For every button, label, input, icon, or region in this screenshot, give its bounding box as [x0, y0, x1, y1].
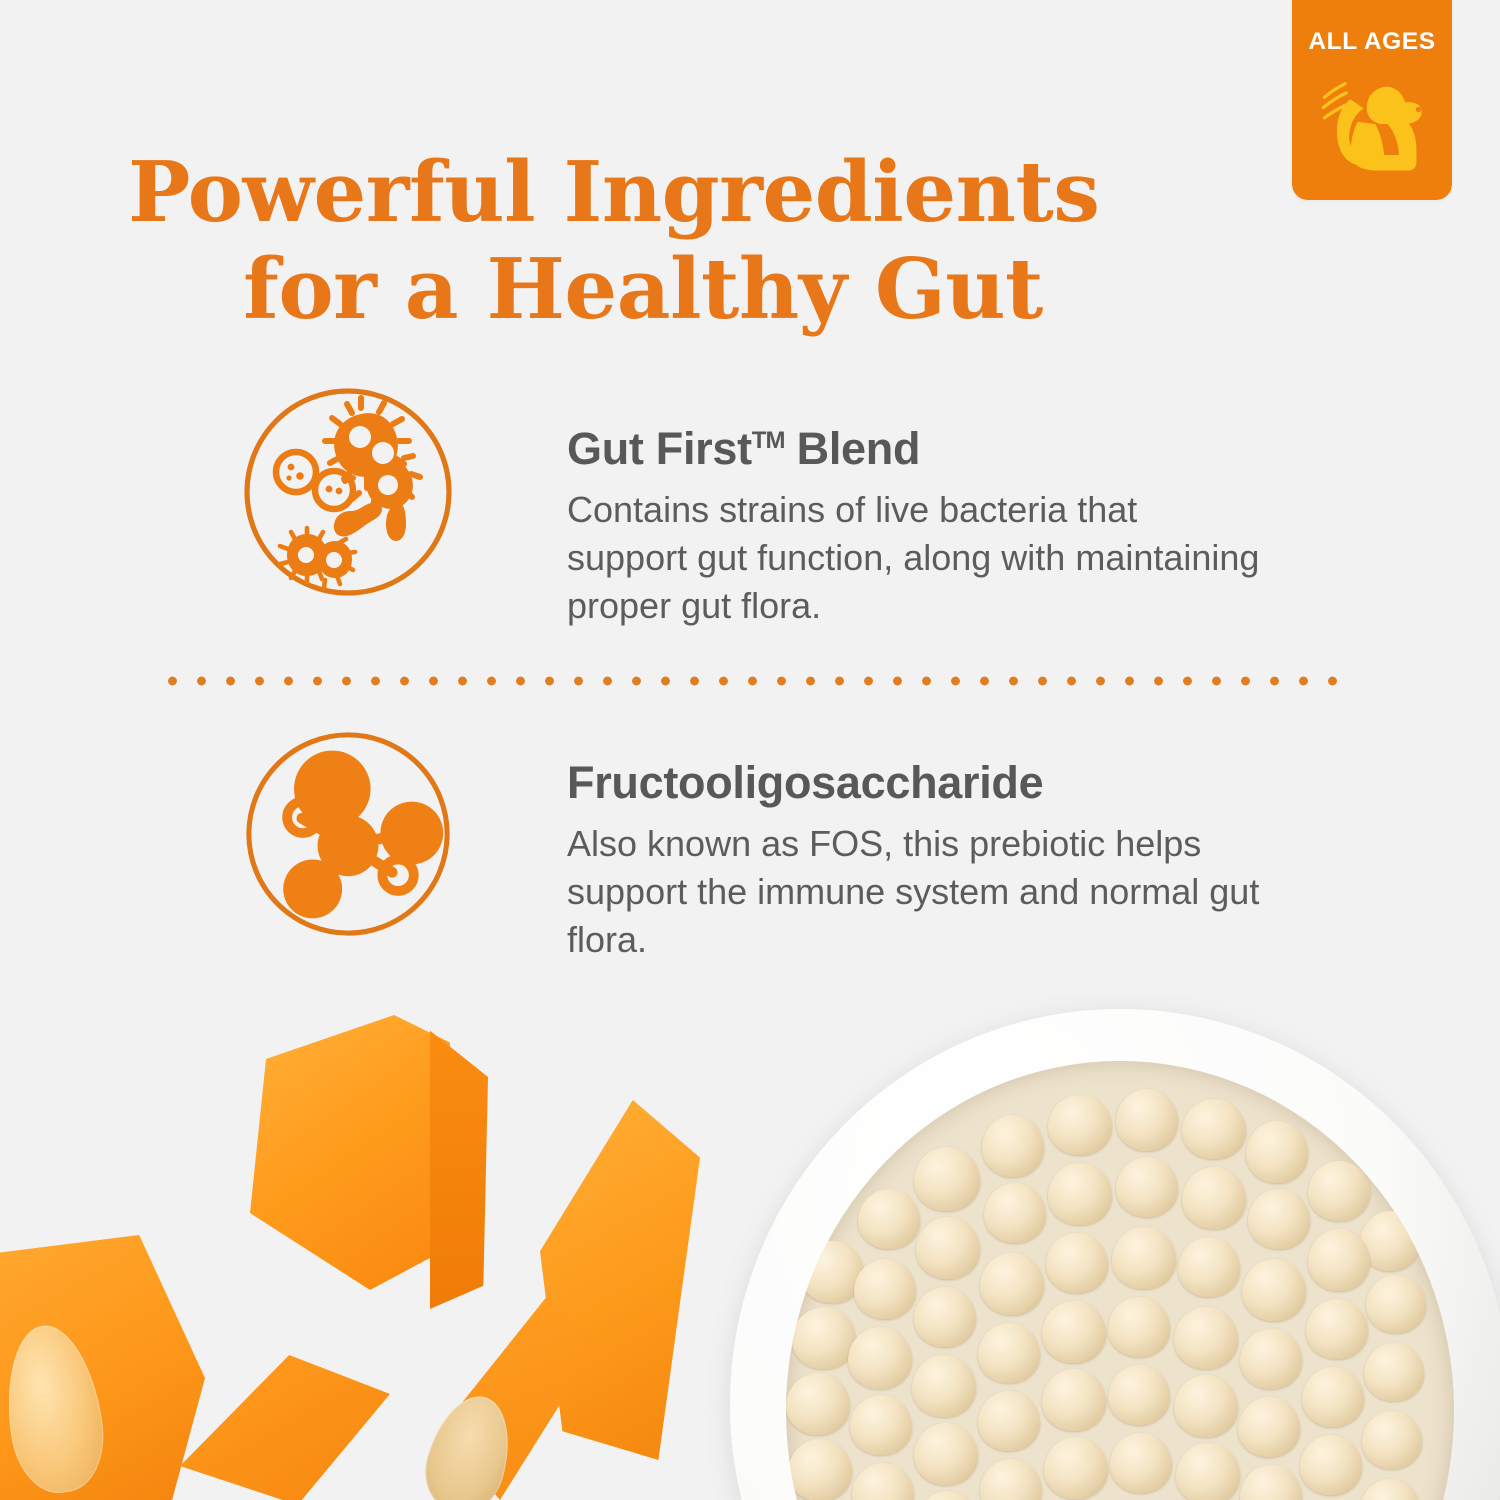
feature-title-main: Fructooligosaccharide — [567, 757, 1043, 808]
chickpeas-bowl-photo — [700, 995, 1500, 1500]
ingredient-photo-band — [0, 995, 1500, 1500]
feature-description-gut-first-blend: Contains strains of live bacteria that s… — [567, 486, 1267, 630]
feature-description-fructooligosaccharide: Also known as FOS, this prebiotic helps … — [567, 820, 1267, 964]
feature-title-main: Gut First — [567, 423, 752, 474]
molecule-icon — [243, 728, 453, 940]
section-divider — [158, 676, 1342, 686]
headline-line-2: for a Healthy Gut — [128, 241, 1238, 338]
feature-title-gut-first-blend: Gut FirstTM Blend — [567, 416, 1267, 474]
headline-line-1: Powerful Ingredients — [128, 144, 1238, 241]
sitting-dog-icon — [1310, 62, 1434, 186]
all-ages-badge-label: ALL AGES — [1292, 28, 1452, 56]
feature-title-suffix: Blend — [784, 423, 920, 474]
all-ages-badge: ALL AGES — [1292, 0, 1452, 200]
trademark-symbol: TM — [752, 427, 785, 454]
bacteria-petri-dish-icon — [243, 386, 453, 598]
feature-text-fructooligosaccharide: Fructooligosaccharide Also known as FOS,… — [567, 758, 1267, 964]
feature-title-fructooligosaccharide: Fructooligosaccharide — [567, 758, 1267, 808]
infographic-page: ALL AGES Powerful — [0, 0, 1500, 1500]
chickpea-pile — [786, 1061, 1454, 1500]
pumpkin-chunks-photo — [0, 995, 760, 1500]
feature-text-gut-first-blend: Gut FirstTM Blend Contains strains of li… — [567, 416, 1267, 630]
page-title: Powerful Ingredients for a Healthy Gut — [128, 144, 1238, 338]
white-bowl — [730, 1009, 1500, 1500]
